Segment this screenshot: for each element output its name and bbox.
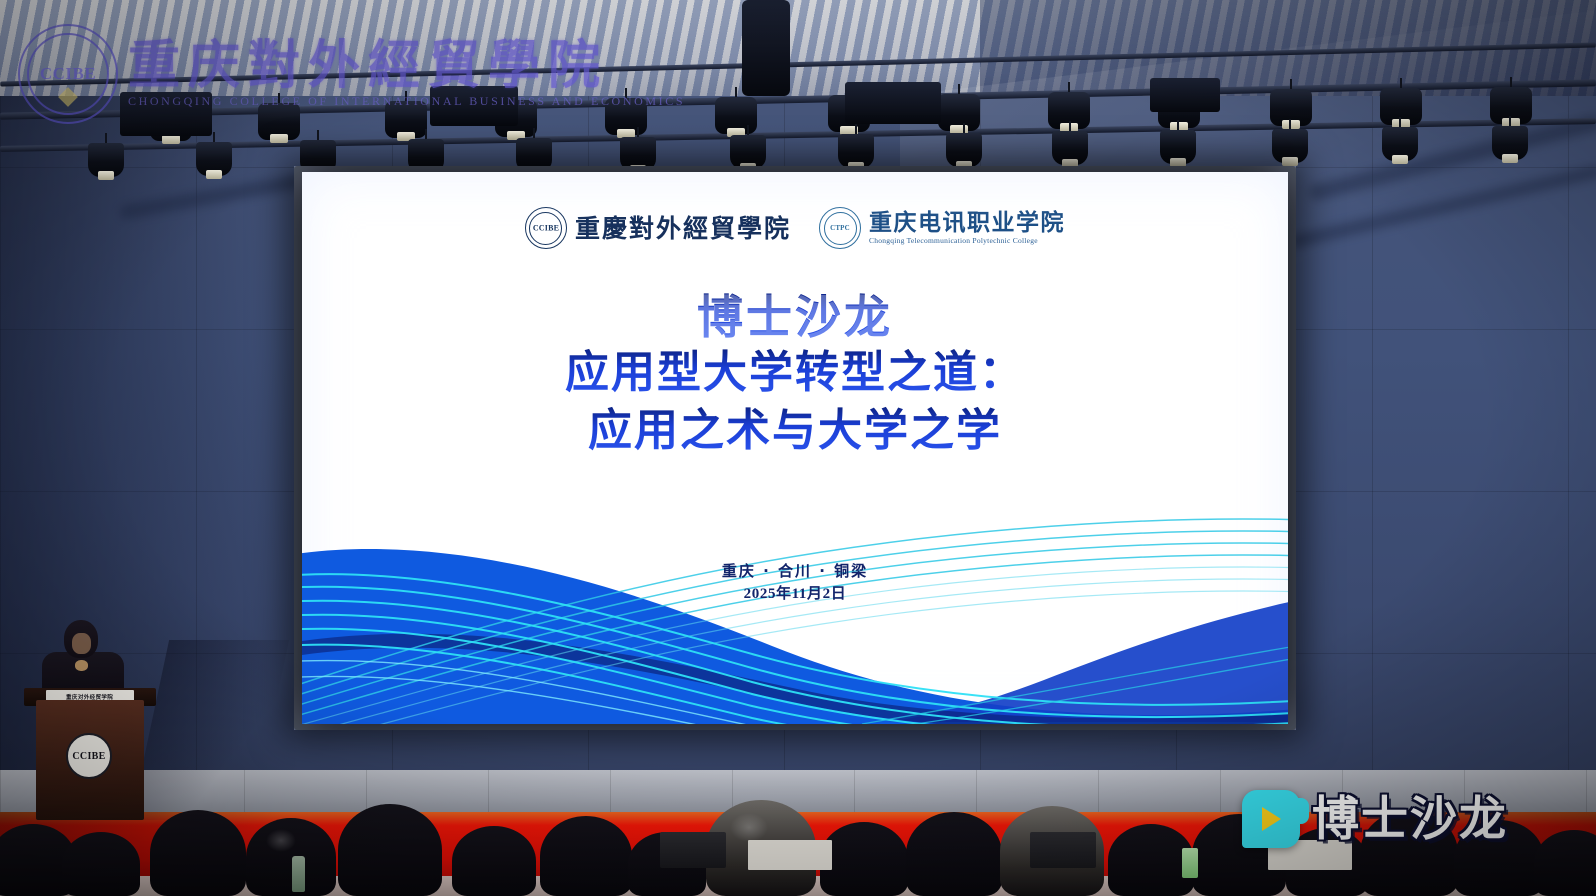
stage-light — [196, 132, 232, 182]
ccibe-seal-icon: CCIBE — [525, 207, 567, 249]
ctpc-name-en: Chongqing Telecommunication Polytechnic … — [869, 236, 1065, 245]
play-triangle-icon — [1262, 807, 1281, 831]
stage-light — [1272, 119, 1308, 169]
stage-light — [88, 133, 124, 183]
venue-watermark: CCIBE 重庆對外經貿學院 CHONGQING COLLEGE OF INTE… — [18, 24, 685, 124]
slide-logo-bar: CCIBE 重慶對外經貿學院 CTPC 重庆电讯职业学院 Chongqing T… — [302, 200, 1288, 256]
audience-monitor — [1030, 832, 1096, 868]
channel-logo: 博士沙龙 — [1242, 790, 1508, 848]
audience-head — [1534, 830, 1596, 896]
audience-head — [246, 818, 336, 896]
venue-seal-icon: CCIBE — [18, 24, 118, 124]
audience-monitor — [660, 832, 726, 868]
stage-light — [1052, 121, 1088, 171]
slide-title-line2: 应用之术与大学之学 — [302, 402, 1288, 460]
venue-name-en: CHONGQING COLLEGE OF INTERNATIONAL BUSIN… — [128, 94, 685, 109]
audience-head — [906, 812, 1002, 896]
slide-date: 2025年11月2日 — [302, 583, 1288, 606]
venue-name-cn: 重庆對外經貿學院 — [128, 40, 685, 92]
audience-paper-sheet — [748, 840, 832, 870]
audience-head — [338, 804, 442, 896]
led-panel-light — [845, 82, 941, 124]
channel-logo-text: 博士沙龙 — [1312, 796, 1508, 843]
slide-meta: 重庆 · 合川 · 铜梁 2025年11月2日 — [302, 560, 1288, 605]
venue-seal-diamond-icon — [58, 87, 78, 107]
audience-head — [150, 810, 246, 896]
ccibe-seal-text: CCIBE — [526, 224, 566, 233]
stage-light — [1382, 117, 1418, 167]
audience-head — [820, 822, 908, 896]
slide-place: 重庆 · 合川 · 铜梁 — [302, 560, 1288, 583]
wave-decoration — [302, 494, 1288, 724]
slide-title-main: 博士沙龙 — [302, 290, 1288, 344]
slide-title-line1: 应用型大学转型之道： — [302, 344, 1288, 402]
podium-seal-text: CCIBE — [72, 751, 105, 762]
ctpc-seal-text: CTPC — [820, 224, 860, 232]
projection-screen: CCIBE 重慶對外經貿學院 CTPC 重庆电讯职业学院 Chongqing T… — [302, 172, 1288, 724]
ceiling-speaker — [742, 0, 790, 96]
ctpc-name-cn: 重庆电讯职业学院 — [869, 212, 1065, 235]
audience-head — [62, 832, 140, 896]
audience-phone — [1182, 848, 1198, 878]
audience-head — [452, 826, 536, 896]
led-panel-light — [1150, 78, 1220, 112]
venue-seal-text: CCIBE — [20, 64, 116, 84]
conference-photo: CCIBE 重慶對外經貿學院 CTPC 重庆电讯职业学院 Chongqing T… — [0, 0, 1596, 896]
podium-seal-icon: CCIBE — [66, 733, 112, 779]
speaker-hand — [75, 660, 88, 671]
stage-light — [1492, 116, 1528, 166]
ctpc-seal-icon: CTPC — [819, 207, 861, 249]
presentation-slide: CCIBE 重慶對外經貿學院 CTPC 重庆电讯职业学院 Chongqing T… — [302, 172, 1288, 724]
play-button-icon — [1242, 790, 1300, 848]
ccibe-name-cn: 重慶對外經貿學院 — [575, 216, 791, 241]
audience-head — [540, 816, 632, 896]
stage-light — [1160, 120, 1196, 170]
logo-ctpc: CTPC 重庆电讯职业学院 Chongqing Telecommunicatio… — [819, 207, 1065, 249]
speaker-face — [72, 633, 91, 654]
audience-bottle — [292, 856, 305, 892]
logo-ccibe: CCIBE 重慶對外經貿學院 — [525, 207, 791, 249]
slide-titles: 博士沙龙 应用型大学转型之道： 应用之术与大学之学 — [302, 290, 1288, 460]
